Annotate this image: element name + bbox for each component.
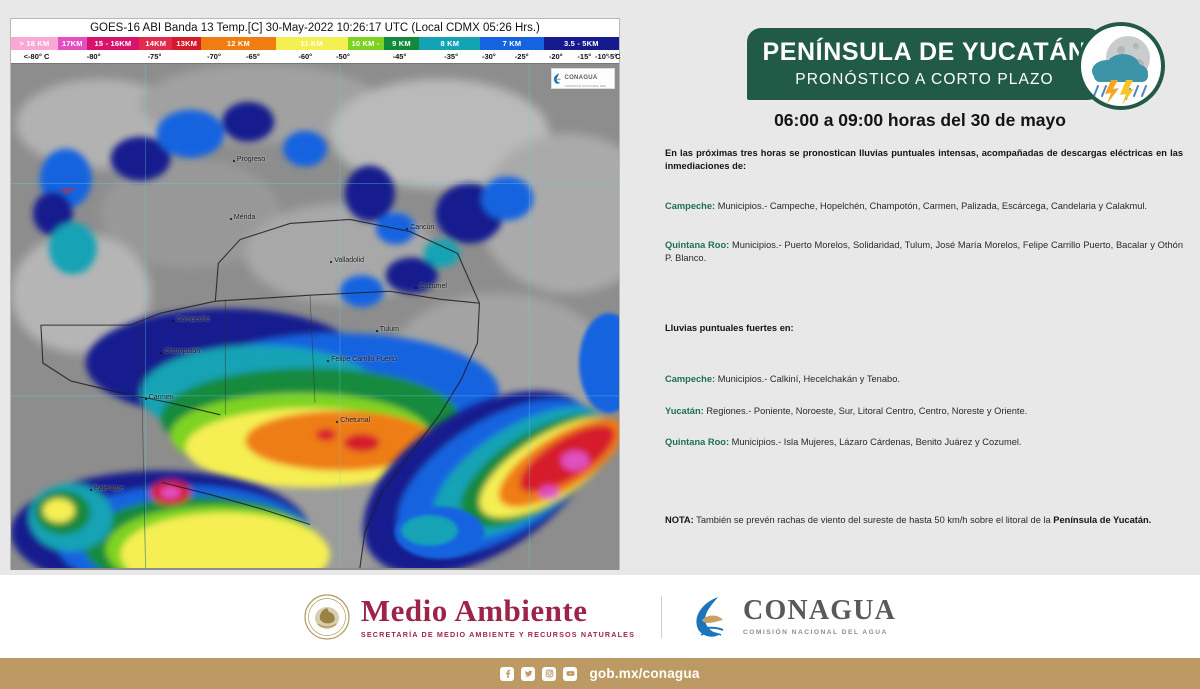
strong-state-label-campeche: Campeche: bbox=[665, 374, 715, 384]
strong-state-body-campeche: Municipios.- Calkiní, Hecelchakán y Tena… bbox=[715, 374, 900, 384]
city-label-felipe-carrillo-puerto: Felipe Carrillo Puerto bbox=[331, 356, 397, 363]
strong-rain-quintana-roo: Quintana Roo: Municipios.- Isla Mujeres,… bbox=[665, 436, 1183, 449]
colorbar-segment-4: 13KM bbox=[172, 37, 201, 50]
city-label-palenque: Palenque bbox=[94, 485, 124, 492]
temp-tick-2: -75° bbox=[148, 50, 162, 63]
satellite-title: GOES-16 ABI Banda 13 Temp.[C] 30-May-202… bbox=[11, 19, 619, 37]
conagua-logo: CONAGUA COMISIÓN NACIONAL DEL AGUA bbox=[688, 594, 896, 640]
medio-ambiente-logo: Medio Ambiente SECRETARÍA DE MEDIO AMBIE… bbox=[304, 594, 635, 640]
note-label: NOTA: bbox=[665, 515, 694, 525]
intro-text: En las próximas tres horas se pronostica… bbox=[665, 148, 1183, 171]
colorbar-segment-2: 15 - 16KM bbox=[87, 37, 140, 50]
temp-tick-3: -70° bbox=[207, 50, 221, 63]
temp-tick-9: -30° bbox=[482, 50, 496, 63]
watermark-sub: COMISIÓN NACIONAL DEL AGUA bbox=[564, 84, 614, 92]
colorbar-segment-7: 10 KM - bbox=[348, 37, 384, 50]
strong-state-body-quintana-roo: Municipios.- Isla Mujeres, Lázaro Cárden… bbox=[729, 437, 1021, 447]
mexico-coat-of-arms-icon bbox=[304, 594, 350, 640]
strong-state-label-yucatan: Yucatán: bbox=[665, 406, 704, 416]
temp-tick-5: -60° bbox=[298, 50, 312, 63]
page-title: PENÍNSULA DE YUCATÁN bbox=[762, 40, 1086, 65]
city-label-canc-n: Cancún bbox=[410, 224, 434, 231]
temp-tick-6: -50° bbox=[336, 50, 350, 63]
colorbar-segment-6: 11 KM bbox=[276, 37, 348, 50]
city-dot-8 bbox=[145, 398, 147, 400]
city-label-tulum: Tulum bbox=[380, 326, 399, 333]
logo-divider bbox=[661, 596, 662, 638]
temp-tick-15: C bbox=[615, 50, 620, 63]
colorbar-segment-8: 9 KM bbox=[384, 37, 420, 50]
intro-paragraph: En las próximas tres horas se pronostica… bbox=[665, 147, 1183, 173]
satellite-panel: GOES-16 ABI Banda 13 Temp.[C] 30-May-202… bbox=[10, 18, 620, 570]
temperature-colorbar: > 18 KM17KM15 - 16KM14KM13KM12 KM11 KM10… bbox=[11, 37, 619, 50]
latitude-label: +20° bbox=[60, 188, 75, 195]
page-subtitle: PRONÓSTICO A CORTO PLAZO bbox=[795, 72, 1053, 88]
colorbar-segment-0: > 18 KM bbox=[11, 37, 58, 50]
city-label-champot-n: Champotón bbox=[164, 348, 200, 355]
gob-url-label[interactable]: gob.mx/conagua bbox=[589, 666, 699, 681]
temp-tick-12: -15° bbox=[577, 50, 591, 63]
medio-ambiente-tagline: SECRETARÍA DE MEDIO AMBIENTE Y RECURSOS … bbox=[361, 630, 635, 639]
city-label-valladolid: Valladolid bbox=[334, 257, 364, 264]
note-body: También se prevén rachas de viento del s… bbox=[694, 515, 1054, 525]
social-bar: gob.mx/conagua bbox=[0, 658, 1200, 689]
conagua-wave-icon bbox=[552, 72, 562, 85]
satellite-map[interactable]: +20° CONAGUA COMISIÓN NACIONAL DEL AGUA … bbox=[11, 63, 619, 570]
state-body-campeche: Municipios.- Campeche, Hopelchén, Champo… bbox=[715, 201, 1147, 211]
temp-tick-4: -65° bbox=[246, 50, 260, 63]
strong-rain-heading: Lluvias puntuales fuertes en: bbox=[665, 322, 1183, 335]
state-label-quintana-roo: Quintana Roo: bbox=[665, 240, 729, 250]
strong-rain-campeche: Campeche: Municipios.- Calkiní, Hecelcha… bbox=[665, 373, 1183, 386]
colorbar-segment-3: 14KM bbox=[139, 37, 172, 50]
city-label-m-rida: Mérida bbox=[234, 214, 255, 221]
forecast-panel: PENÍNSULA DE YUCATÁN PRONÓSTICO A CORTO … bbox=[640, 0, 1200, 575]
youtube-icon[interactable] bbox=[563, 667, 577, 681]
header-band: PENÍNSULA DE YUCATÁN PRONÓSTICO A CORTO … bbox=[747, 28, 1102, 100]
twitter-icon[interactable] bbox=[521, 667, 535, 681]
temp-tick-10: -25° bbox=[515, 50, 529, 63]
colorbar-segment-5: 12 KM bbox=[201, 37, 276, 50]
instagram-icon[interactable] bbox=[542, 667, 556, 681]
intense-rain-campeche: Campeche: Municipios.- Campeche, Hopelch… bbox=[665, 200, 1183, 213]
temp-tick-8: -35° bbox=[444, 50, 458, 63]
colorbar-segment-9: 8 KM bbox=[419, 37, 480, 50]
city-label-campeche: Campeche bbox=[176, 316, 210, 323]
footer-logos: Medio Ambiente SECRETARÍA DE MEDIO AMBIE… bbox=[0, 575, 1200, 658]
strong-rain-yucatan: Yucatán: Regiones.- Poniente, Noroeste, … bbox=[665, 405, 1183, 418]
city-label-cozumel: Cozumel bbox=[419, 283, 447, 290]
note-paragraph: NOTA: También se prevén rachas de viento… bbox=[665, 514, 1183, 527]
storm-moon-icon bbox=[1077, 22, 1165, 110]
conagua-wave-eagle-icon bbox=[688, 594, 732, 640]
satellite-imagery bbox=[11, 64, 619, 568]
strong-state-body-yucatan: Regiones.- Poniente, Noroeste, Sur, Lito… bbox=[704, 406, 1027, 416]
watermark-name: CONAGUA bbox=[564, 75, 597, 81]
state-label-campeche: Campeche: bbox=[665, 201, 715, 211]
temp-tick-7: -45° bbox=[393, 50, 407, 63]
colorbar-segment-10: 7 KM bbox=[480, 37, 544, 50]
timeframe-heading: 06:00 a 09:00 horas del 30 de mayo bbox=[640, 110, 1200, 131]
strong-rain-heading-text: Lluvias puntuales fuertes en: bbox=[665, 323, 794, 333]
temp-tick-1: -80° bbox=[87, 50, 101, 63]
state-body-quintana-roo: Municipios.- Puerto Morelos, Solidaridad… bbox=[665, 240, 1183, 263]
city-label-progreso: Progreso bbox=[237, 156, 265, 163]
note-emphasis: Península de Yucatán. bbox=[1053, 515, 1151, 525]
colorbar-segment-11: 3.5 - 5KM bbox=[544, 37, 619, 50]
city-label-carmen: Carmen bbox=[149, 394, 174, 401]
intense-rain-quintana-roo: Quintana Roo: Municipios.- Puerto Morelo… bbox=[665, 239, 1183, 265]
strong-state-label-quintana-roo: Quintana Roo: bbox=[665, 437, 729, 447]
temperature-axis: <-80° C-80°-75°-70°-65°-60°-50°-45°-35°-… bbox=[11, 50, 619, 63]
medio-ambiente-name: Medio Ambiente bbox=[361, 595, 635, 626]
facebook-icon[interactable] bbox=[500, 667, 514, 681]
city-dot-6 bbox=[172, 320, 174, 322]
temp-tick-0: <-80° C bbox=[24, 50, 50, 63]
conagua-name: CONAGUA bbox=[743, 597, 896, 625]
conagua-watermark: CONAGUA COMISIÓN NACIONAL DEL AGUA bbox=[551, 68, 615, 89]
colorbar-segment-1: 17KM bbox=[58, 37, 87, 50]
city-dot-5 bbox=[376, 330, 378, 332]
conagua-tagline: COMISIÓN NACIONAL DEL AGUA bbox=[743, 629, 896, 636]
city-label-chetumal: Chetumal bbox=[340, 417, 370, 424]
temp-tick-11: -20° bbox=[549, 50, 563, 63]
